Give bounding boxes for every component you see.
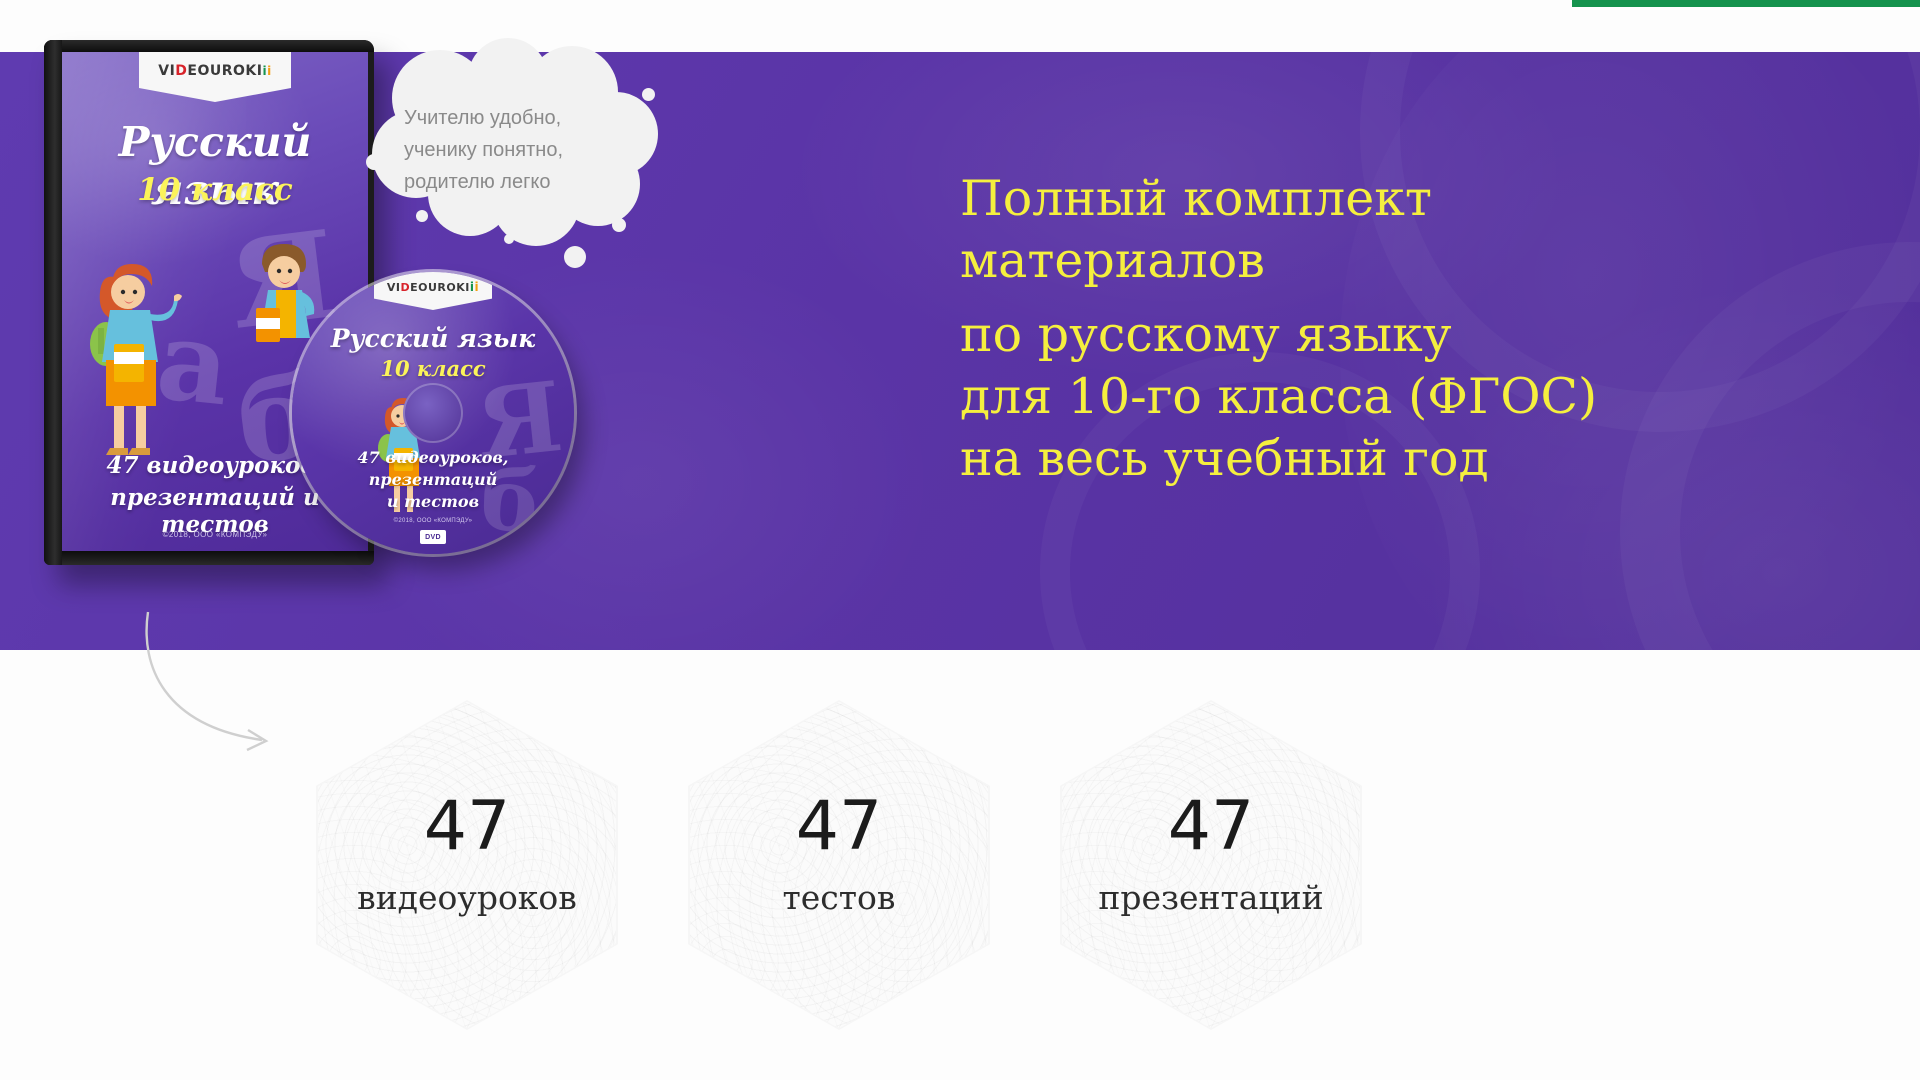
thought-cloud-text: Учителю удобно, ученику понятно, родител…	[404, 102, 626, 198]
disc-footer-line-3: и тестов	[292, 492, 574, 511]
stat-value-videolessons: 47	[316, 793, 618, 861]
top-green-bar	[1572, 0, 1920, 7]
case-spine	[44, 40, 62, 565]
cover-subtitle: 10 класс	[62, 172, 368, 208]
stat-value-tests: 47	[688, 793, 990, 861]
stat-value-presentations: 47	[1060, 793, 1362, 861]
stat-hexagon-videolessons: 47 видеоуроков	[316, 700, 618, 1030]
cloud-bubble-2	[416, 210, 428, 222]
headline-line-3: по русскому языку	[960, 304, 1840, 366]
thought-cloud: Учителю удобно, ученику понятно, родител…	[358, 42, 668, 282]
stat-label-videolessons: видеоуроков	[316, 878, 618, 917]
headline-line-2: материалов	[960, 230, 1840, 292]
disc-footer-line-2: презентаций	[292, 470, 574, 489]
brand-logo-text: VIDEOUROKIii	[158, 63, 272, 79]
cloud-line-2: ученику понятно,	[404, 134, 626, 166]
landing-page: Полный комплект материалов по русскому я…	[0, 0, 1920, 1080]
dvd-format-badge: DVD	[420, 530, 446, 544]
top-green-bar-shadow	[1572, 7, 1920, 10]
disc-footer-line-1: 47 видеоуроков,	[292, 448, 574, 467]
headline-line-1: Полный комплект	[960, 168, 1840, 230]
stats-hexagon-row: 47 видеоуроков 47 тестов 47 презентаций	[0, 700, 1920, 1030]
cloud-bubble-6	[504, 234, 514, 244]
case-bottom-edge	[44, 551, 374, 565]
stat-hexagon-presentations: 47 презентаций	[1060, 700, 1362, 1030]
cloud-bubble-3	[564, 246, 586, 268]
student-girl-illustration	[88, 248, 196, 458]
cloud-bubble-5	[642, 88, 655, 101]
cloud-line-1: Учителю удобно,	[404, 102, 626, 134]
headline-line-5: на весь учебный год	[960, 428, 1840, 490]
hero-headline: Полный комплект материалов по русскому я…	[960, 168, 1840, 490]
stat-hexagon-tests: 47 тестов	[688, 700, 990, 1030]
cloud-bubble-1	[366, 154, 382, 170]
product-dvd-disc: Я б VIDEOUROKIii Русский язык 10 класс 4…	[292, 272, 574, 554]
disc-center-hub	[403, 383, 463, 443]
cover-copyright: ©2018, ООО «КОМПЭДУ»	[62, 530, 368, 539]
stat-label-tests: тестов	[688, 878, 990, 917]
headline-spacer	[960, 292, 1840, 304]
stat-label-presentations: презентаций	[1060, 878, 1362, 917]
cloud-bubble-4	[612, 218, 626, 232]
case-top-edge	[44, 40, 374, 52]
headline-line-4: для 10-го класса (ФГОС)	[960, 366, 1840, 428]
disc-copyright: ©2018, ООО «КОМПЭДУ»	[292, 518, 574, 524]
disc-title: Русский язык	[292, 324, 574, 353]
brand-logo-text-disc: VIDEOUROKIii	[387, 280, 479, 294]
disc-subtitle: 10 класс	[292, 356, 574, 381]
cloud-line-3: родителю легко	[404, 166, 626, 198]
